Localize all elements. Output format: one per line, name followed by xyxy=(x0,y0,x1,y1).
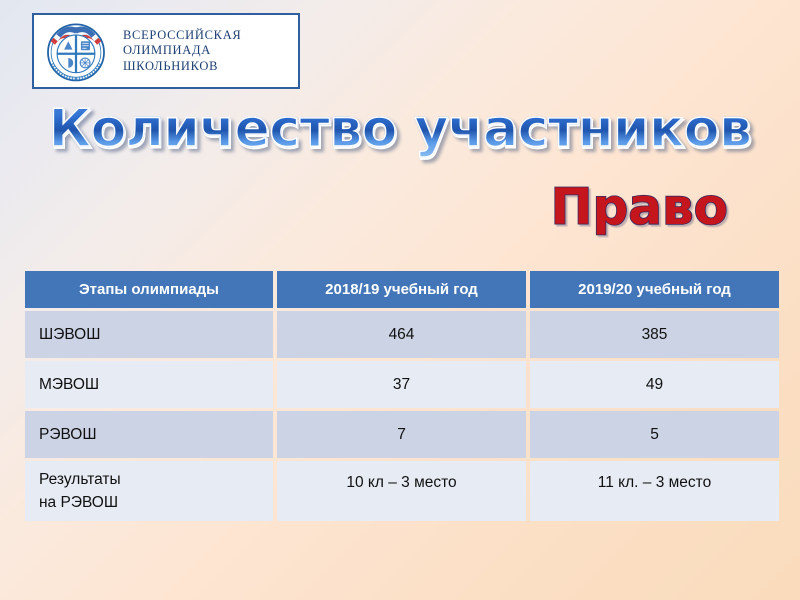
cell-results-2019: 11 кл. – 3 место xyxy=(530,461,779,521)
participants-table: Этапы олимпиады 2018/19 учебный год 2019… xyxy=(21,268,783,524)
olympiad-logo-text: ВСЕРОССИЙСКАЯ ОЛИМПИАДА ШКОЛЬНИКОВ xyxy=(123,28,241,75)
row-label-results: Результаты на РЭВОШ xyxy=(25,461,273,521)
row-label-mevosh: МЭВОШ xyxy=(25,361,273,408)
table-body: ШЭВОШ 464 385 МЭВОШ 37 49 РЭВОШ 7 5 Резу… xyxy=(25,311,779,521)
cell-results-2018: 10 кл – 3 место xyxy=(277,461,526,521)
column-header-stage: Этапы олимпиады xyxy=(25,271,273,308)
cell-shevosh-2019: 385 xyxy=(530,311,779,358)
cell-shevosh-2018: 464 xyxy=(277,311,526,358)
slide-subject-title: Право xyxy=(0,178,800,236)
column-header-year-2018: 2018/19 учебный год xyxy=(277,271,526,308)
slide-title: Количество участников xyxy=(0,99,800,159)
olympiad-logo-box: ВСЕРОССИЙСКАЯ ОЛИМПИАДА ШКОЛЬНИКОВ xyxy=(32,13,300,89)
table-row: Результаты на РЭВОШ 10 кл – 3 место 11 к… xyxy=(25,461,779,521)
cell-revosh-2018: 7 xyxy=(277,411,526,458)
table-row: МЭВОШ 37 49 xyxy=(25,361,779,408)
row-label-shevosh: ШЭВОШ xyxy=(25,311,273,358)
slide-canvas: ВСЕРОССИЙСКАЯ ОЛИМПИАДА ШКОЛЬНИКОВ Колич… xyxy=(0,0,800,600)
cell-mevosh-2018: 37 xyxy=(277,361,526,408)
row-label-revosh: РЭВОШ xyxy=(25,411,273,458)
table-header: Этапы олимпиады 2018/19 учебный год 2019… xyxy=(25,271,779,308)
vseros-olympiad-emblem-icon xyxy=(41,16,111,86)
cell-mevosh-2019: 49 xyxy=(530,361,779,408)
table-row: ШЭВОШ 464 385 xyxy=(25,311,779,358)
participants-table-wrapper: Этапы олимпиады 2018/19 учебный год 2019… xyxy=(25,271,771,521)
column-header-year-2019: 2019/20 учебный год xyxy=(530,271,779,308)
table-header-row: Этапы олимпиады 2018/19 учебный год 2019… xyxy=(25,271,779,308)
table-row: РЭВОШ 7 5 xyxy=(25,411,779,458)
cell-revosh-2019: 5 xyxy=(530,411,779,458)
